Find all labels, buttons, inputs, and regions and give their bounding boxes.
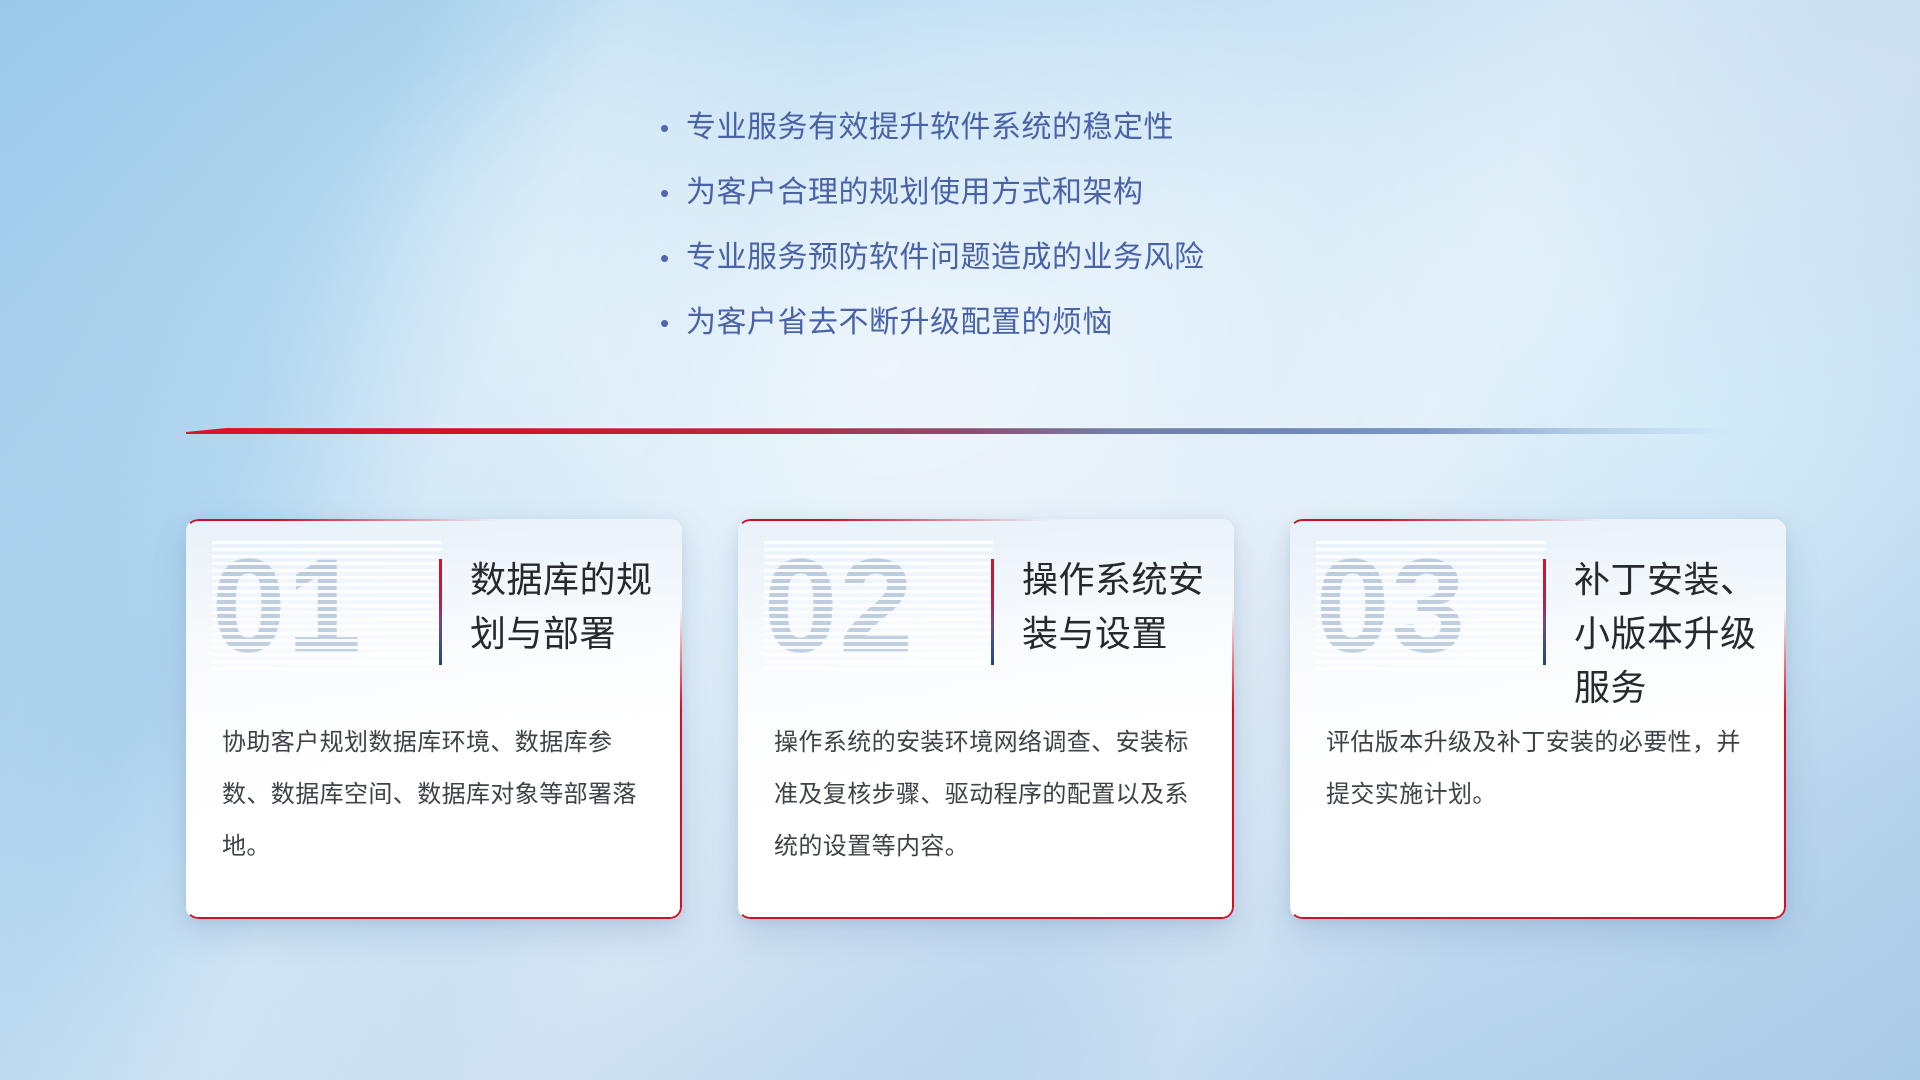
card-description: 协助客户规划数据库环境、数据库参数、数据库空间、数据库对象等部署落地。 (222, 717, 648, 873)
card-title: 操作系统安装与设置 (1022, 553, 1234, 661)
card-watermark-stripes (212, 541, 442, 673)
card-description: 评估版本升级及补丁安装的必要性，并提交实施计划。 (1326, 717, 1752, 821)
service-card-02[interactable]: 02 操作系统安装与设置 操作系统的安装环境网络调查、安装标准及复核步骤、驱动程… (738, 519, 1234, 919)
bullet-text: 专业服务预防软件问题造成的业务风险 (686, 238, 1205, 278)
divider-highlight (186, 426, 1734, 429)
card-header: 补丁安装、小版本升级服务 (1543, 553, 1786, 715)
section-divider (186, 424, 1734, 440)
service-card-03[interactable]: 03 补丁安装、小版本升级服务 评估版本升级及补丁安装的必要性，并提交实施计划。 (1290, 519, 1786, 919)
bullet-item: • 为客户省去不断升级配置的烦恼 (660, 303, 1440, 368)
card-header: 操作系统安装与设置 (991, 553, 1234, 665)
card-watermark-number: 02 (764, 541, 915, 671)
service-card-row: 01 数据库的规划与部署 协助客户规划数据库环境、数据库参数、数据库空间、数据库… (186, 519, 1786, 919)
slide-canvas: • 专业服务有效提升软件系统的稳定性 • 为客户合理的规划使用方式和架构 • 专… (0, 0, 1920, 1080)
card-description: 操作系统的安装环境网络调查、安装标准及复核步骤、驱动程序的配置以及系统的设置等内… (774, 717, 1200, 873)
bullet-dot-icon: • (660, 108, 686, 148)
benefits-bullet-list: • 专业服务有效提升软件系统的稳定性 • 为客户合理的规划使用方式和架构 • 专… (660, 108, 1440, 368)
card-watermark-stripes (1316, 541, 1546, 673)
bullet-text: 为客户省去不断升级配置的烦恼 (686, 303, 1113, 343)
bullet-item: • 专业服务有效提升软件系统的稳定性 (660, 108, 1440, 173)
service-card-01[interactable]: 01 数据库的规划与部署 协助客户规划数据库环境、数据库参数、数据库空间、数据库… (186, 519, 682, 919)
bullet-dot-icon: • (660, 303, 686, 343)
card-title: 数据库的规划与部署 (470, 553, 682, 661)
bullet-text: 专业服务有效提升软件系统的稳定性 (686, 108, 1174, 148)
bullet-dot-icon: • (660, 173, 686, 213)
card-accent-bar (1543, 559, 1546, 665)
card-accent-bar (439, 559, 442, 665)
card-header: 数据库的规划与部署 (439, 553, 682, 665)
bullet-dot-icon: • (660, 238, 686, 278)
bullet-text: 为客户合理的规划使用方式和架构 (686, 173, 1144, 213)
card-watermark-stripes (764, 541, 994, 673)
bullet-item: • 专业服务预防软件问题造成的业务风险 (660, 238, 1440, 303)
bullet-item: • 为客户合理的规划使用方式和架构 (660, 173, 1440, 238)
card-accent-bar (991, 559, 994, 665)
card-watermark-number: 03 (1316, 541, 1467, 671)
card-watermark-number: 01 (212, 541, 363, 671)
card-title: 补丁安装、小版本升级服务 (1574, 553, 1786, 715)
